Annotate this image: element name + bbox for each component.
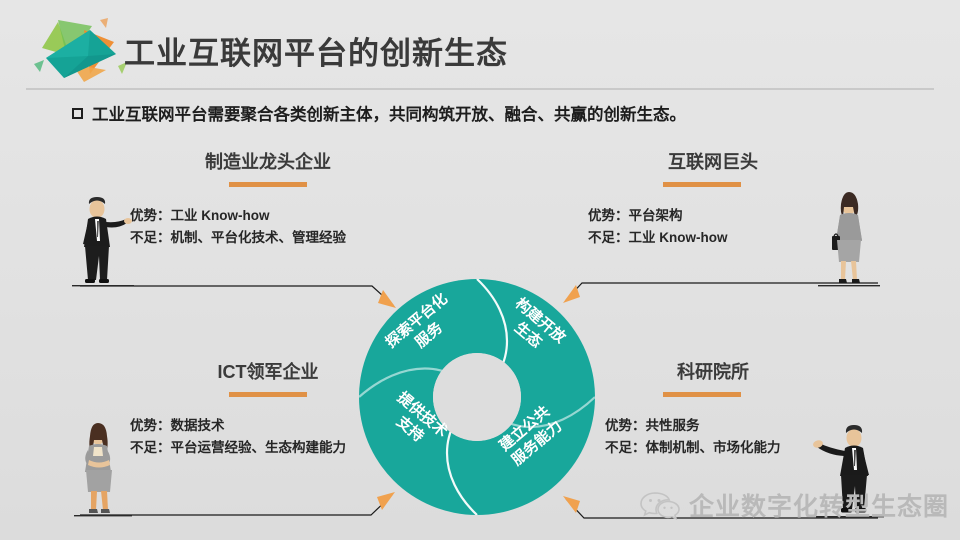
quadrant-title: 互联网巨头 — [543, 148, 883, 174]
advantage-value: 数据技术 — [171, 418, 225, 433]
quadrant-manufacturing-leaders: 制造业龙头企业 优势：工业 Know-how 不足：机制、平台化技术、管理经验 — [118, 148, 418, 249]
weakness-value: 机制、平台化技术、管理经验 — [171, 230, 347, 245]
quadrant-underline — [229, 182, 307, 187]
advantage-label: 优势： — [588, 208, 629, 223]
quadrant-underline — [663, 392, 741, 397]
person-businessman-pointing — [72, 196, 134, 288]
advantage-label: 优势： — [130, 418, 171, 433]
weakness-value: 体制机制、市场化能力 — [646, 440, 781, 455]
weakness-value: 工业 Know-how — [629, 230, 728, 245]
advantage-label: 优势： — [130, 208, 171, 223]
weakness-label: 不足： — [130, 230, 171, 245]
quadrant-underline — [229, 392, 307, 397]
watermark: 企业数字化转型生态圈 — [640, 487, 949, 523]
watermark-text: 企业数字化转型生态圈 — [689, 487, 949, 523]
weakness-label: 不足： — [605, 440, 646, 455]
weakness-label: 不足： — [130, 440, 171, 455]
advantage-value: 平台架构 — [629, 208, 683, 223]
weakness-label: 不足： — [588, 230, 629, 245]
person-businesswoman-arms-crossed — [64, 420, 132, 518]
quadrant-underline — [663, 182, 741, 187]
weakness-value: 平台运营经验、生态构建能力 — [171, 440, 347, 455]
weakness-line: 不足：机制、平台化技术、管理经验 — [130, 227, 418, 249]
wechat-icon — [640, 490, 680, 520]
quadrant-title: 制造业龙头企业 — [118, 148, 418, 174]
person-businesswoman-with-bag — [818, 190, 880, 288]
slide-canvas: 工业互联网平台的创新生态 工业互联网平台需要聚合各类创新主体，共同构筑开放、融合… — [0, 0, 960, 540]
advantage-value: 工业 Know-how — [171, 208, 270, 223]
connector-top-left — [80, 286, 393, 305]
advantage-line: 优势：工业 Know-how — [130, 205, 418, 227]
advantage-label: 优势： — [605, 418, 646, 433]
ecosystem-donut-diagram: 探索平台化 服务 构建开放 生态 提供技术 支持 建立公共 服务能力 — [357, 277, 597, 517]
advantage-value: 共性服务 — [646, 418, 700, 433]
